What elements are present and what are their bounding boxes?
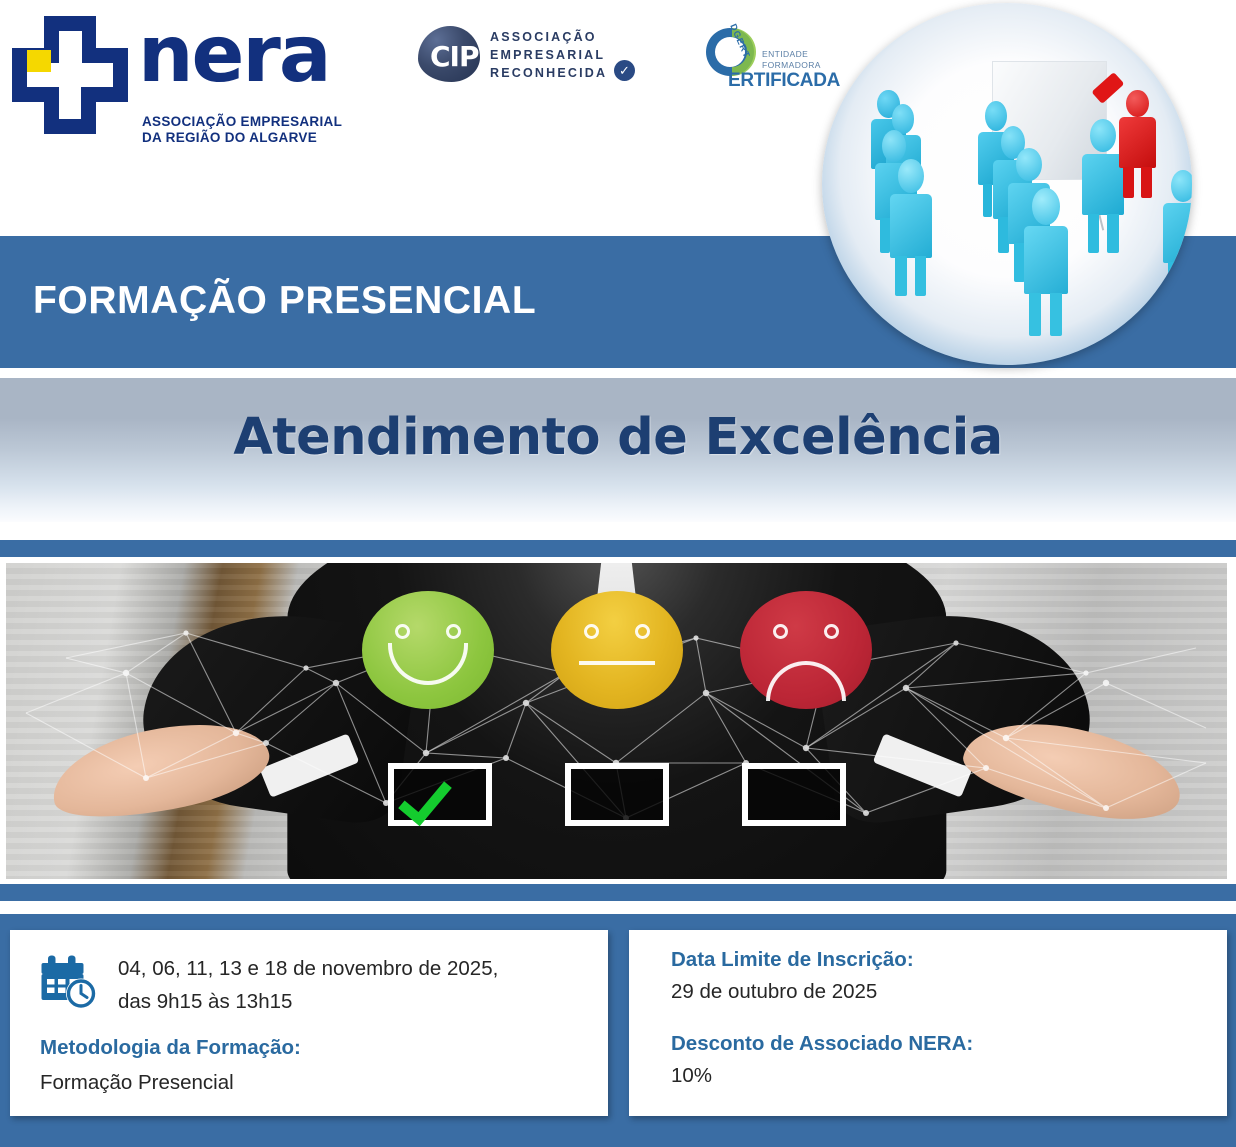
eye-right <box>824 624 839 639</box>
divider-bar-bottom <box>0 884 1236 901</box>
eye-right <box>446 624 461 639</box>
neutral-face-icon <box>551 591 683 709</box>
checkmark-icon <box>398 770 452 826</box>
checkbox-neutral[interactable] <box>565 763 669 826</box>
figure-red-presenter <box>1114 83 1162 199</box>
schedule-line-1: 04, 06, 11, 13 e 18 de novembro de 2025, <box>118 952 578 985</box>
cip-logo: CIP ASSOCIAÇÃO EMPRESARIAL RECONHECIDA ✓ <box>418 24 658 86</box>
methodology-block: Metodologia da Formação: Formação Presen… <box>40 1036 301 1095</box>
rating-checkbox-row <box>6 763 1227 826</box>
schedule-line-2: das 9h15 às 13h15 <box>118 985 578 1018</box>
cip-line-1: ASSOCIAÇÃO <box>490 29 607 47</box>
methodology-value: Formação Presencial <box>40 1071 301 1095</box>
nera-subtitle-line1: ASSOCIAÇÃO EMPRESARIAL <box>142 114 342 130</box>
nera-subtitle: ASSOCIAÇÃO EMPRESARIAL DA REGIÃO DO ALGA… <box>142 114 342 146</box>
mouth-smile <box>388 643 468 685</box>
figure-blue <box>1159 170 1192 300</box>
dgert-logo: DGERT ENTIDADE FORMADORA ERTIFICADA <box>700 22 830 92</box>
checkbox-happy-checked[interactable] <box>388 763 492 826</box>
checkbox-sad[interactable] <box>742 763 846 826</box>
course-title: Atendimento de Excelência <box>233 408 1002 467</box>
calendar-clock-icon <box>40 954 98 1010</box>
divider-bar-top <box>0 540 1236 557</box>
flyer-poster: nera ASSOCIAÇÃO EMPRESARIAL DA REGIÃO DO… <box>0 0 1236 1147</box>
figure-blue <box>885 159 937 297</box>
banner-title: FORMAÇÃO PRESENCIAL <box>33 279 536 323</box>
cip-blob-shape: CIP <box>418 26 480 82</box>
schedule-dates: 04, 06, 11, 13 e 18 de novembro de 2025,… <box>118 952 578 1018</box>
deadline-value: 29 de outubro de 2025 <box>671 980 914 1004</box>
cip-line-3: RECONHECIDA <box>490 65 607 83</box>
methodology-label: Metodologia da Formação: <box>40 1036 301 1059</box>
mouth-flat <box>579 661 655 665</box>
enrollment-card: Data Limite de Inscrição: 29 de outubro … <box>629 930 1227 1116</box>
satisfaction-rating-photo <box>6 563 1227 879</box>
discount-label: Desconto de Associado NERA: <box>671 1032 973 1055</box>
cip-text-lines: ASSOCIAÇÃO EMPRESARIAL RECONHECIDA <box>490 29 607 82</box>
schedule-card: 04, 06, 11, 13 e 18 de novembro de 2025,… <box>10 930 608 1116</box>
deadline-label: Data Limite de Inscrição: <box>671 948 914 971</box>
sad-face-icon <box>740 591 872 709</box>
smiley-face-row <box>6 591 1227 709</box>
discount-block: Desconto de Associado NERA: 10% <box>671 1032 973 1088</box>
dgert-small-text: ENTIDADE FORMADORA <box>762 49 821 72</box>
nera-logo: nera ASSOCIAÇÃO EMPRESARIAL DA REGIÃO DO… <box>10 14 350 139</box>
nera-cross-icon <box>10 14 130 136</box>
discount-value: 10% <box>671 1064 973 1088</box>
nera-subtitle-line2: DA REGIÃO DO ALGARVE <box>142 130 342 146</box>
training-group-circle-image <box>822 3 1192 365</box>
nera-wordmark: nera <box>138 20 330 92</box>
cip-mark: CIP <box>430 40 479 73</box>
figure-blue <box>1018 188 1074 336</box>
deadline-block: Data Limite de Inscrição: 29 de outubro … <box>671 948 914 1004</box>
mouth-frown <box>766 661 846 701</box>
happy-face-icon <box>362 591 494 709</box>
eye-left <box>584 624 599 639</box>
eye-right <box>635 624 650 639</box>
training-scene <box>822 3 1192 365</box>
eye-left <box>395 624 410 639</box>
course-title-band: Atendimento de Excelência <box>0 378 1236 522</box>
check-badge-icon: ✓ <box>614 60 635 81</box>
dgert-small-line1: ENTIDADE <box>762 49 821 60</box>
cip-line-2: EMPRESARIAL <box>490 47 607 65</box>
eye-left <box>773 624 788 639</box>
